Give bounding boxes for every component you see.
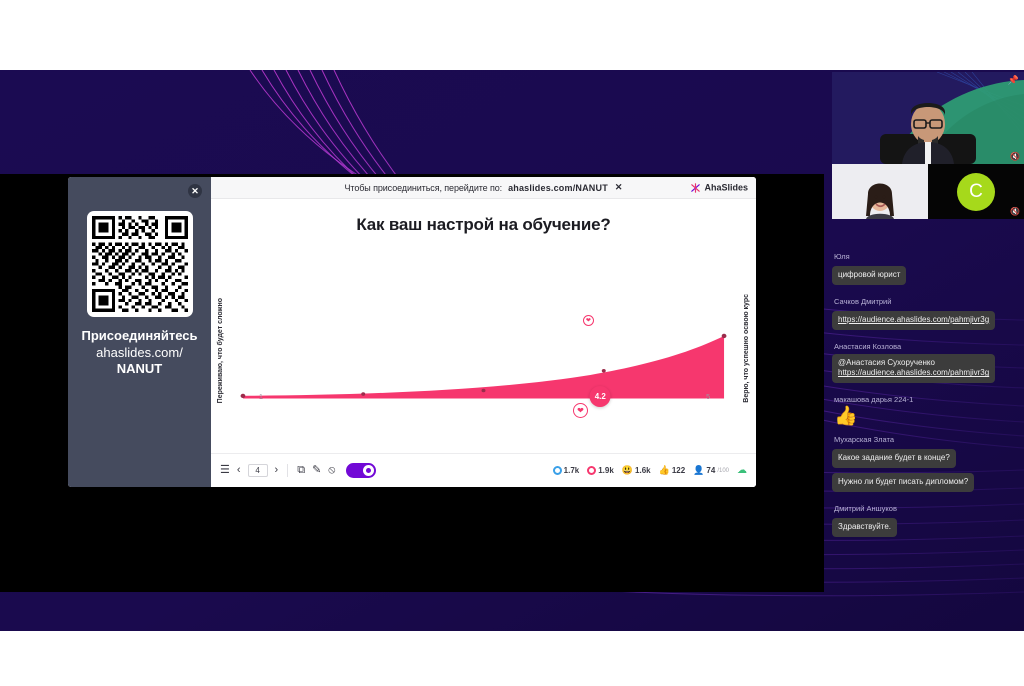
ahaslides-brand-label: AhaSlides (704, 183, 748, 193)
slide-body: Как ваш настрой на обучение? Переживаю, … (211, 199, 756, 453)
stat-reactions: 1.9k (587, 466, 614, 475)
slide-main: Чтобы присоединиться, перейдите по: ahas… (211, 177, 756, 487)
chat-bubble[interactable]: Нужно ли будет писать дипломом? (832, 473, 974, 492)
ahaslides-slide: ✕ (68, 177, 756, 487)
chart-left-axis-label: Переживаю, что будет сложно (217, 298, 224, 403)
ahaslides-logo: AhaSlides (690, 182, 748, 193)
chart-plot-area: 1 5 ❤ ❤ ❤ 4.2 (235, 251, 732, 403)
chat-message-group: Дмитрий Аншуков Здравствуйте. (832, 504, 1024, 540)
chat-bubble[interactable]: Какое задание будет в конце? (832, 449, 956, 468)
results-toggle[interactable] (346, 463, 376, 478)
emoji-smile-icon: 😃 (622, 465, 633, 476)
stat-value: 1.7k (564, 466, 580, 475)
close-icon[interactable]: ✕ (188, 184, 202, 198)
stat-views: 1.7k (553, 466, 580, 475)
average-score-badge: 4.2 (590, 386, 611, 407)
slide-topbar: Чтобы присоединиться, перейдите по: ahas… (211, 177, 756, 199)
chat-author: Юля (832, 252, 1024, 261)
stat-value: 1.6k (635, 466, 651, 475)
pin-icon[interactable]: 📌 (1008, 75, 1019, 86)
stat-sync: ☁ (737, 465, 747, 476)
chat-author: Дмитрий Аншуков (832, 504, 1024, 513)
video-tiles: 📌 🔇 (832, 72, 1024, 219)
prev-slide-button[interactable]: ‹ (237, 465, 241, 476)
join-instruction: Чтобы присоединиться, перейдите по: (345, 183, 503, 193)
chat-link[interactable]: https://audience.ahaslides.com/pahmjivr3… (838, 315, 989, 324)
qr-join-panel: ✕ (68, 177, 211, 487)
ahaslides-mark-icon (690, 182, 701, 193)
stat-thumbs: 👍 122 (659, 465, 686, 476)
stat-value: 74 (706, 466, 715, 475)
chart-data-points (235, 251, 732, 403)
cloud-icon: ☁ (737, 465, 747, 476)
thumb-icon: 👍 (659, 465, 670, 476)
qr-code-image (87, 211, 193, 317)
qr-join-label: Присоединяйтесь (82, 328, 198, 345)
chat-message-group: Анастасия Козлова @Анастасия Сухорученко… (832, 342, 1024, 387)
chat-panel[interactable]: Юля цифровой юрист Сачков Дмитрий https:… (832, 252, 1024, 631)
right-rail: 📌 🔇 (824, 70, 1024, 631)
menu-icon[interactable]: ☰ (220, 465, 230, 476)
chart-right-axis-label: Верю, что успешно освою курс (743, 294, 750, 403)
chat-mention[interactable]: @Анастасия Сухорученко (838, 358, 935, 367)
heart-reaction-icon: ❤ (583, 315, 594, 326)
heart-reaction-icon: ❤ (613, 348, 621, 359)
stat-value: 122 (672, 466, 685, 475)
person-icon: 👤 (693, 465, 704, 476)
scale-chart: Переживаю, что будет сложно Верю, что ус… (211, 247, 756, 419)
highlight-icon[interactable]: ✎ (312, 465, 321, 476)
chat-bubble[interactable]: @Анастасия Сухорученко https://audience.… (832, 354, 995, 384)
stat-participants: 👤 74 /100 (693, 465, 729, 476)
slide-stats: 1.7k 1.9k 😃 1.6k 👍 122 (553, 465, 747, 476)
presenter-tile[interactable]: 📌 🔇 (832, 72, 1024, 164)
chat-emoji: 👍 (832, 407, 1024, 426)
close-icon[interactable]: ✕ (615, 182, 623, 193)
chat-author: Мухарская Злата (832, 435, 1024, 444)
secondary-tiles: C 🔇 (832, 164, 1024, 219)
meeting-window: ✕ (0, 70, 1024, 631)
ring-blue-icon (553, 466, 562, 475)
chat-bubble[interactable]: Здравствуйте. (832, 518, 897, 537)
next-slide-button[interactable]: › (275, 465, 279, 476)
divider (287, 464, 288, 477)
ring-pink-icon (587, 466, 596, 475)
stat-value: 1.9k (598, 466, 614, 475)
qr-code-label: NANUT (82, 361, 198, 378)
mic-off-icon: 🔇 (1010, 152, 1020, 161)
screenshot-root: ✕ (0, 0, 1024, 686)
chart-tick-max: 5 (706, 394, 710, 401)
chat-author: Сачков Дмитрий (832, 297, 1024, 306)
slide-nav-controls: ☰ ‹ 4 › ⧉ ✎ ⦸ (220, 463, 376, 478)
present-mode-icon[interactable]: ⧉ (297, 465, 305, 476)
avatar-tile[interactable]: C 🔇 (928, 164, 1024, 219)
page-title: Как ваш настрой на обучение? (211, 215, 756, 235)
chart-tick-min: 1 (259, 394, 263, 401)
chat-author: макашова дарья 224-1 (832, 395, 1024, 404)
avatar: C (957, 173, 995, 211)
mic-off-icon: 🔇 (1010, 207, 1020, 216)
chat-message-group: Сачков Дмитрий https://audience.ahaslide… (832, 297, 1024, 333)
stat-limit: /100 (717, 468, 729, 474)
chat-bubble[interactable]: https://audience.ahaslides.com/pahmjivr3… (832, 311, 995, 330)
stat-emoji: 😃 1.6k (622, 465, 651, 476)
hide-results-icon[interactable]: ⦸ (328, 465, 335, 476)
slide-footer-toolbar: ☰ ‹ 4 › ⧉ ✎ ⦸ 1.7k (211, 453, 756, 487)
heart-reaction-icon: ❤ (573, 403, 588, 418)
chat-message-group: Мухарская Злата Какое задание будет в ко… (832, 435, 1024, 495)
chat-bubble[interactable]: цифровой юрист (832, 266, 906, 285)
chat-message-group: макашова дарья 224-1 👍 (832, 395, 1024, 426)
participant-tile[interactable] (832, 164, 928, 219)
chat-author: Анастасия Козлова (832, 342, 1024, 351)
qr-url-label: ahaslides.com/ (82, 345, 198, 362)
chat-message-group: Юля цифровой юрист (832, 252, 1024, 288)
qr-caption: Присоединяйтесь ahaslides.com/ NANUT (82, 328, 198, 378)
join-url: ahaslides.com/NANUT (508, 183, 608, 193)
slide-page-number[interactable]: 4 (248, 464, 268, 477)
chat-link[interactable]: https://audience.ahaslides.com/pahmjivr3… (838, 368, 989, 377)
